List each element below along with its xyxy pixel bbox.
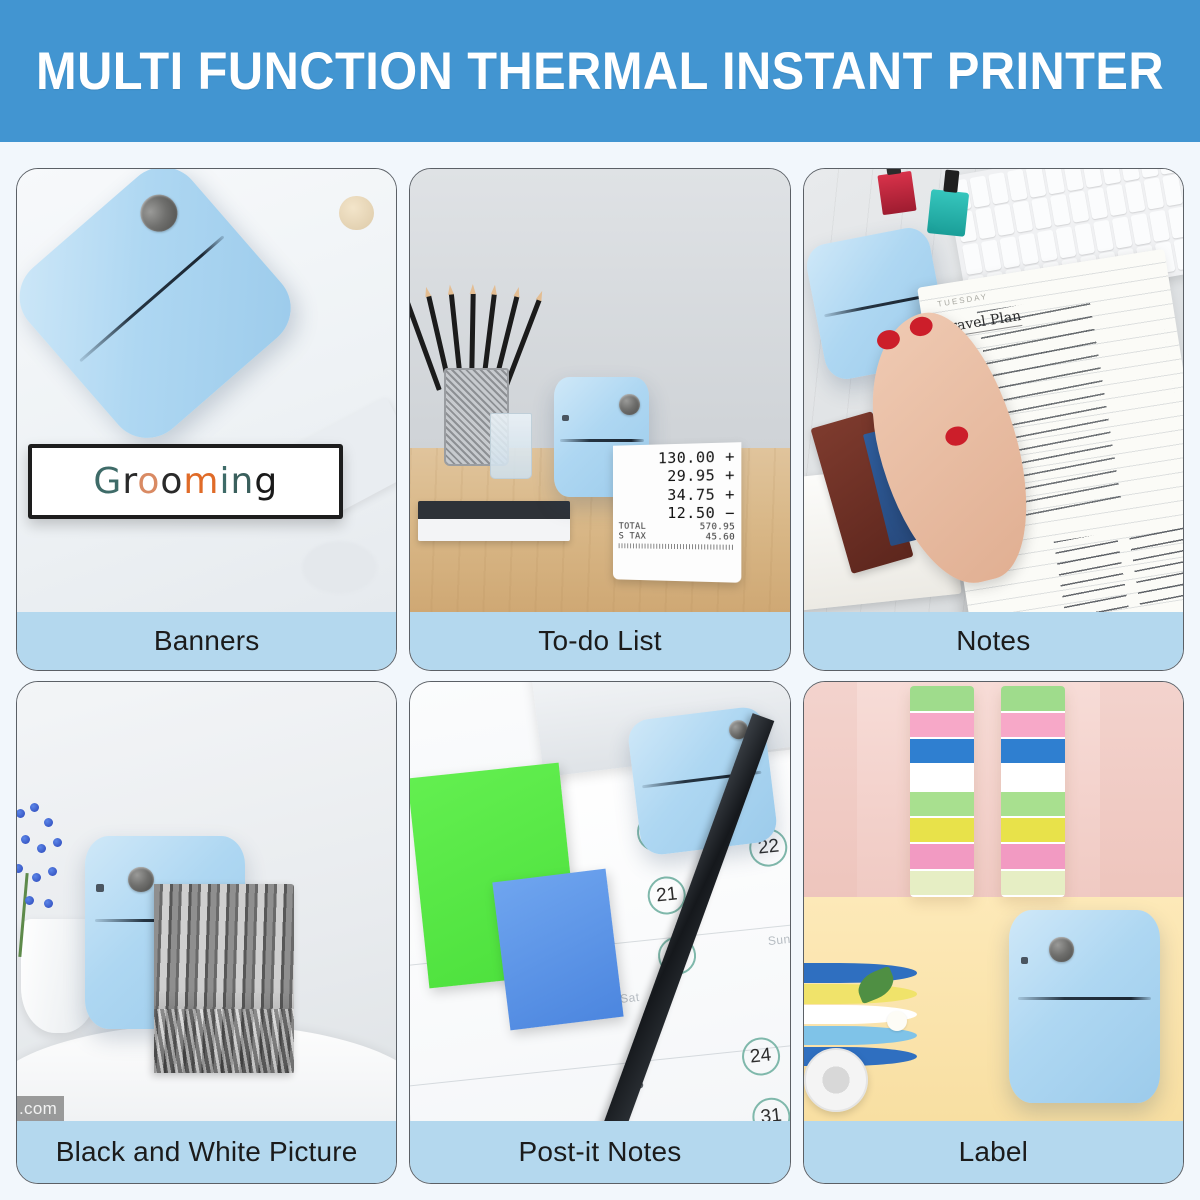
card-caption-banners: Banners xyxy=(17,612,396,670)
nail-polish-bottle-red xyxy=(877,171,916,215)
books-stack xyxy=(418,501,570,541)
paper-slot xyxy=(560,439,643,442)
label-roll-stack xyxy=(910,686,974,897)
fingernail xyxy=(943,424,970,448)
banner-letter: G xyxy=(93,461,122,502)
banner-text: Grooming xyxy=(93,461,278,502)
led-indicator-icon xyxy=(96,884,104,892)
receipt-line: 34.75 + xyxy=(619,485,735,504)
page-title: MULTI FUNCTION THERMAL INSTANT PRINTER xyxy=(36,41,1164,102)
receipt-line: 29.95 + xyxy=(619,466,735,486)
paper-slot xyxy=(1018,997,1152,1000)
receipt-barcode xyxy=(619,543,735,550)
printed-banner-label: Grooming xyxy=(28,444,343,519)
card-caption-black-and-white-picture: Black and White Picture xyxy=(17,1121,396,1183)
label-roll-stack xyxy=(1001,686,1065,897)
card-caption-notes: Notes xyxy=(804,612,1183,670)
printed-black-and-white-photo xyxy=(154,884,294,1073)
sticky-note-blue xyxy=(493,869,624,1031)
power-button-icon xyxy=(134,187,186,239)
feature-card-notes[interactable]: TUESDAY Travel Plan Notes xyxy=(803,168,1184,671)
led-indicator-icon xyxy=(562,415,569,421)
banner-letter: i xyxy=(219,461,230,502)
feature-card-todo-list[interactable]: 130.00 + 29.95 + 34.75 + 12.50 − TOTAL 5… xyxy=(409,168,790,671)
calendar-date-circle: 31 xyxy=(751,1095,790,1121)
banner-letter: n xyxy=(230,461,254,502)
card-caption-post-it-notes: Post-it Notes xyxy=(410,1121,789,1183)
fingernail xyxy=(907,314,934,338)
receipt-tax-value: 45.60 xyxy=(706,532,735,542)
thermal-printer-device xyxy=(1009,910,1161,1103)
water-glass xyxy=(490,413,532,479)
card-caption-todo-list: To-do List xyxy=(410,612,789,670)
printed-receipt: 130.00 + 29.95 + 34.75 + 12.50 − TOTAL 5… xyxy=(613,442,741,583)
feature-card-label[interactable]: Label xyxy=(803,681,1184,1184)
product-feature-collage: MULTI FUNCTION THERMAL INSTANT PRINTER G… xyxy=(0,0,1200,1200)
receipt-tax-label: S TAX xyxy=(619,531,646,541)
power-button-icon xyxy=(1049,937,1073,961)
white-flower xyxy=(876,1000,918,1042)
calendar-day-header: Sun xyxy=(767,932,789,948)
feature-card-banners[interactable]: Grooming Banners xyxy=(16,168,397,671)
banner-letter: g xyxy=(254,461,278,502)
calendar-date-circle: 24 xyxy=(740,1036,782,1078)
receipt-total-label: TOTAL xyxy=(619,522,646,532)
receipt-tax-row: S TAX 45.60 xyxy=(619,531,735,542)
handwritten-checklist xyxy=(1054,520,1183,612)
scene-label xyxy=(804,682,1183,1121)
mouse xyxy=(302,541,378,594)
scene-post-it-notes: 14 21 28 22 24 31 27 23 Sat Sun xyxy=(410,682,789,1121)
scene-todo-list: 130.00 + 29.95 + 34.75 + 12.50 − TOTAL 5… xyxy=(410,169,789,612)
scene-black-and-white-picture: .com xyxy=(17,682,396,1121)
tape-roll xyxy=(804,1048,868,1112)
watermark: .com xyxy=(17,1096,64,1121)
feature-card-black-and-white-picture[interactable]: .com Black and White Picture xyxy=(16,681,397,1184)
banner-letter: r xyxy=(122,461,137,502)
power-button-icon xyxy=(128,867,153,892)
calendar-day-header: Sat xyxy=(620,989,641,1005)
banner-letter: o xyxy=(160,461,183,502)
decor-circle xyxy=(339,196,373,230)
scene-notes: TUESDAY Travel Plan xyxy=(804,169,1183,612)
scene-banners: Grooming xyxy=(17,169,396,612)
feature-card-post-it-notes[interactable]: 14 21 28 22 24 31 27 23 Sat Sun xyxy=(409,681,790,1184)
flower-stem xyxy=(18,873,28,957)
receipt-total-row: TOTAL 570.95 xyxy=(619,522,735,533)
receipt-line: 130.00 + xyxy=(619,447,735,468)
feature-card-grid: Grooming Banners xyxy=(16,168,1184,1184)
receipt-line: 12.50 − xyxy=(619,503,735,522)
banner-letter: o xyxy=(137,461,160,502)
notebook-day-label: TUESDAY xyxy=(937,292,989,309)
header-banner: MULTI FUNCTION THERMAL INSTANT PRINTER xyxy=(0,0,1200,142)
power-button-icon xyxy=(619,394,640,415)
banner-paper: Grooming xyxy=(32,448,339,515)
receipt-total-value: 570.95 xyxy=(700,522,735,532)
card-caption-label: Label xyxy=(804,1121,1183,1183)
led-indicator-icon xyxy=(1021,957,1029,965)
banner-letter: m xyxy=(183,461,219,502)
nail-polish-bottle-teal xyxy=(927,189,969,237)
paper-slot xyxy=(79,235,225,362)
